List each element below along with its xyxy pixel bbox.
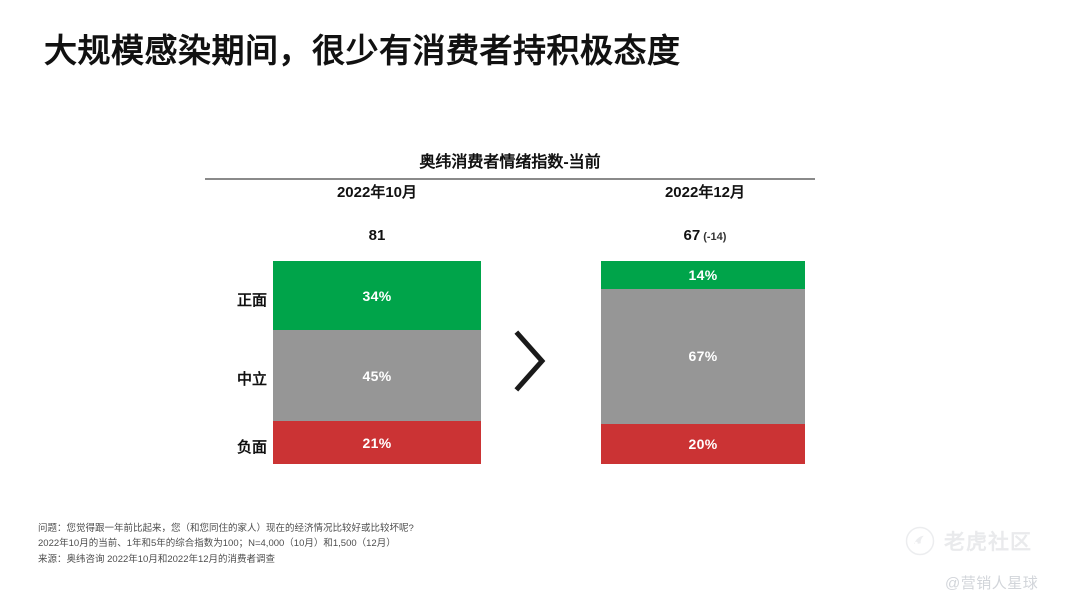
stacked-bar-october: 34% 45% 21% <box>273 261 481 464</box>
bar-segment-label-december-neutral: 67% <box>689 348 718 364</box>
row-label-negative: 负面 <box>221 436 267 457</box>
row-label-positive: 正面 <box>221 289 267 310</box>
column-header-october: 2022年10月 <box>267 181 487 202</box>
bar-segment-label-october-neutral: 45% <box>363 368 392 384</box>
row-label-neutral: 中立 <box>221 368 267 389</box>
bar-segment-october-positive: 34% <box>273 261 481 330</box>
chart-title-divider <box>205 178 815 180</box>
chart-container: 奥纬消费者情绪指数-当前 2022年10月 2022年12月 81 67(-14… <box>205 148 815 478</box>
bar-segment-october-neutral: 45% <box>273 330 481 421</box>
chevron-right-icon <box>510 328 550 394</box>
watermark-brand: 老虎社区 <box>905 526 1032 556</box>
index-delta-december: (-14) <box>703 231 726 243</box>
footnote-source: 来源：奥纬咨询 2022年10月和2022年12月的消费者调查 <box>38 552 414 567</box>
watermark-brand-text: 老虎社区 <box>944 526 1032 556</box>
tiger-logo-icon <box>905 526 935 556</box>
index-total-december-value: 67 <box>684 227 701 244</box>
page-title: 大规模感染期间，很少有消费者持积极态度 <box>44 24 681 72</box>
bar-segment-december-positive: 14% <box>601 261 805 289</box>
bar-segment-december-negative: 20% <box>601 424 805 464</box>
chart-title: 奥纬消费者情绪指数-当前 <box>205 148 815 172</box>
footnote-question: 问题：您觉得跟一年前比起来，您（和您同住的家人）现在的经济情况比较好或比较坏呢? <box>38 521 414 536</box>
index-total-october: 81 <box>267 227 487 244</box>
watermark-handle: @营销人星球 <box>945 572 1038 593</box>
bar-segment-label-october-negative: 21% <box>363 435 392 451</box>
index-total-october-value: 81 <box>369 227 386 244</box>
bar-segment-october-negative: 21% <box>273 421 481 464</box>
column-header-december: 2022年12月 <box>595 181 815 202</box>
bar-segment-december-neutral: 67% <box>601 289 805 424</box>
bar-segment-label-december-positive: 14% <box>689 267 718 283</box>
footnote-methodology: 2022年10月的当前、1年和5年的综合指数为100；N=4,000（10月）和… <box>38 536 414 551</box>
bar-segment-label-december-negative: 20% <box>689 436 718 452</box>
index-total-december: 67(-14) <box>595 227 815 244</box>
footnotes: 问题：您觉得跟一年前比起来，您（和您同住的家人）现在的经济情况比较好或比较坏呢?… <box>38 521 414 567</box>
stacked-bar-december: 14% 67% 20% <box>601 261 805 464</box>
bar-segment-label-october-positive: 34% <box>363 288 392 304</box>
